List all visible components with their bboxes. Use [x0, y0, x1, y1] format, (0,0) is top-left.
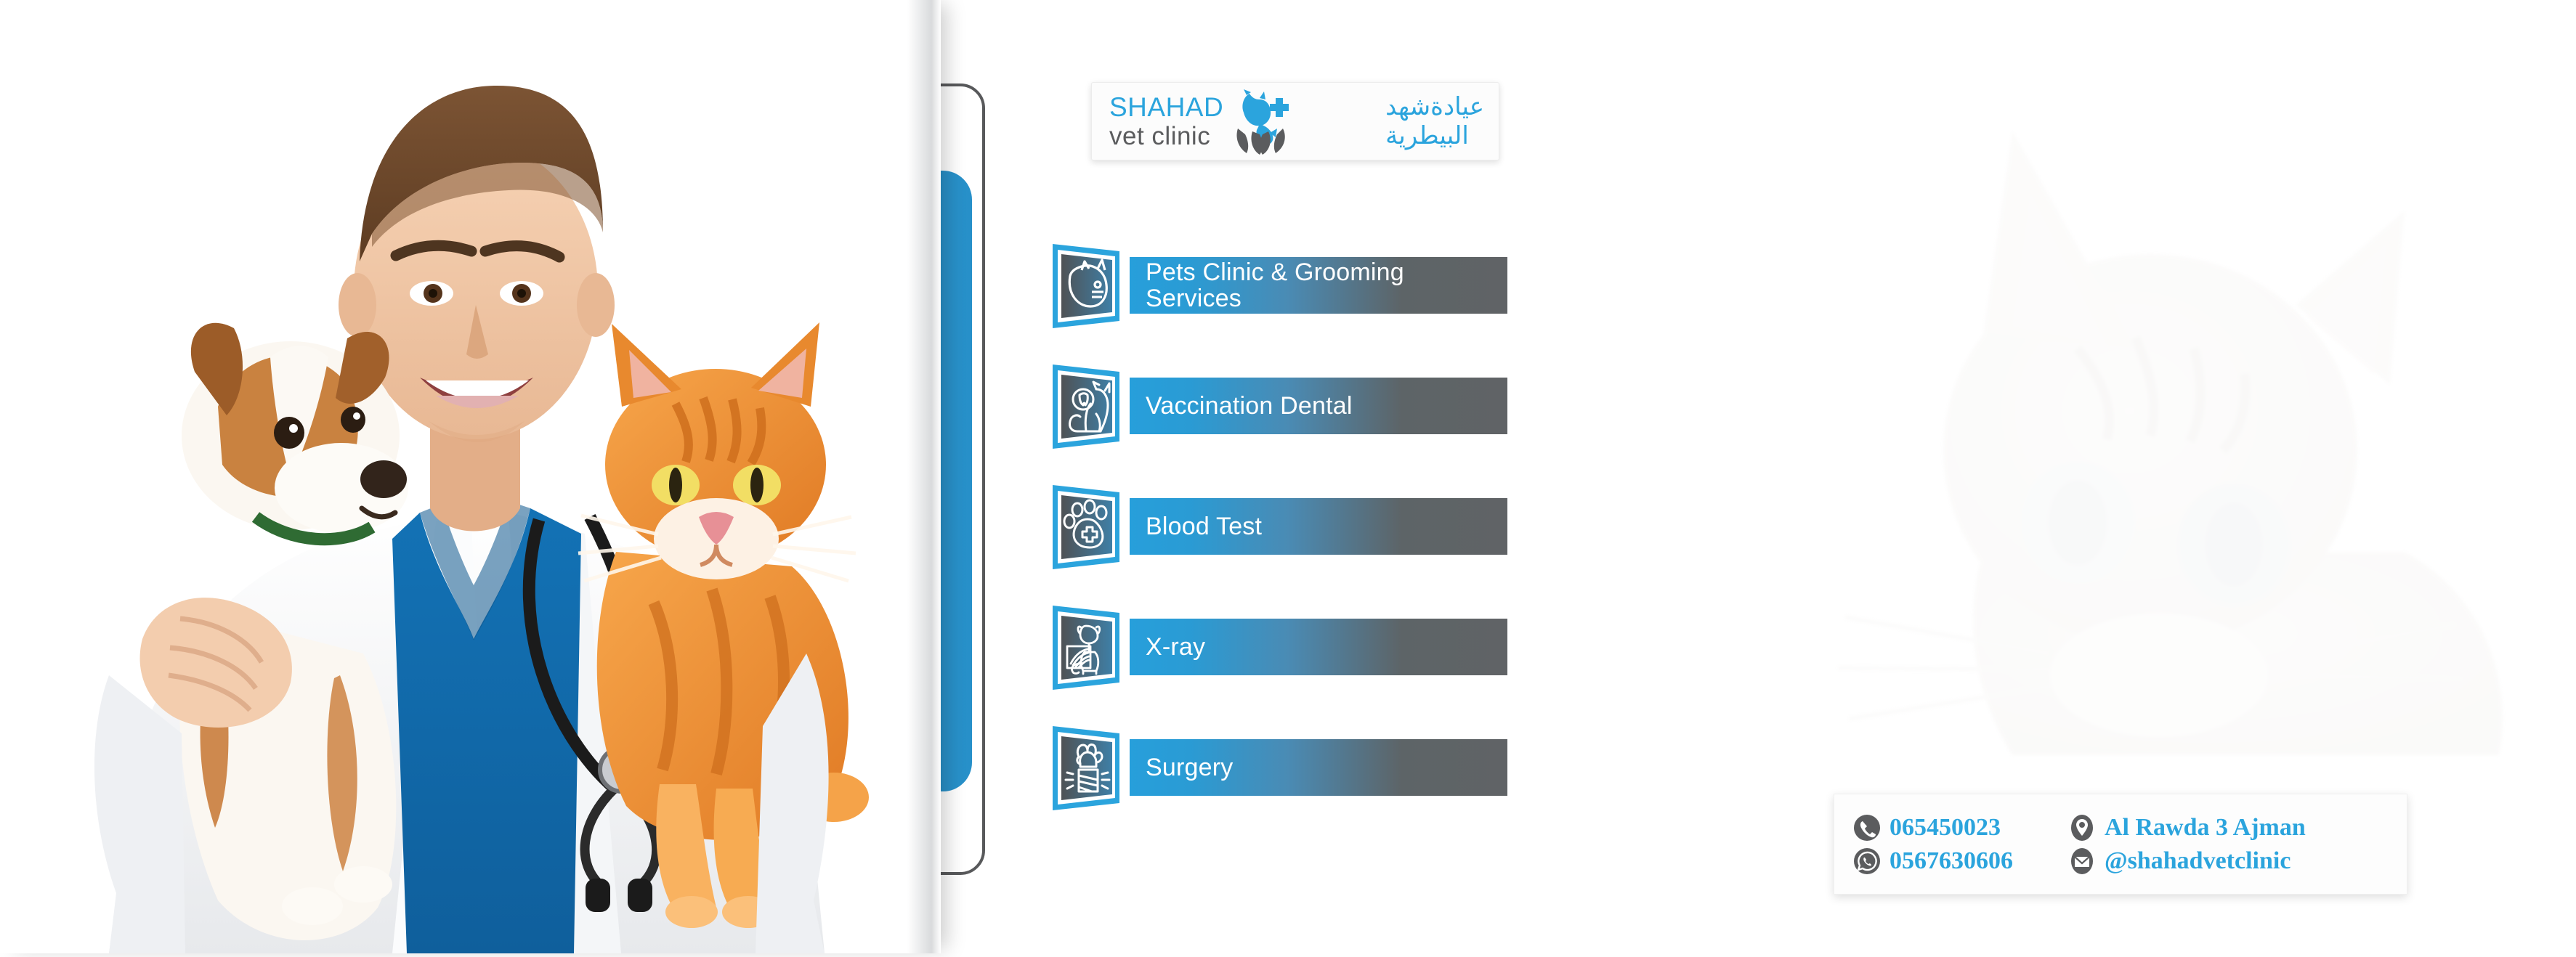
whatsapp-icon [1853, 847, 1881, 875]
logo-english-text: SHAHAD vet clinic [1109, 94, 1223, 149]
service-item[interactable]: Vaccination Dental [1048, 360, 1528, 453]
location-text: Al Rawda 3 Ajman [2105, 814, 2306, 842]
service-label: Surgery [1130, 754, 1233, 781]
dog-cat-cross-logo-icon [1231, 88, 1290, 155]
services-list: Pets Clinic & Grooming Services [1048, 240, 1528, 842]
service-bar: Vaccination Dental [1130, 378, 1507, 434]
service-item[interactable]: Pets Clinic & Grooming Services [1048, 240, 1528, 333]
logo-arabic-line2: البيطرية [1385, 123, 1469, 148]
bandaged-paw-icon [1048, 722, 1130, 815]
service-bar: X-ray [1130, 619, 1507, 675]
contact-info-box: 065450023 Al Rawda 3 Ajman 0567 [1834, 794, 2407, 895]
service-label: Blood Test [1130, 513, 1262, 539]
logo-name-line1: SHAHAD [1109, 94, 1223, 121]
service-item[interactable]: Blood Test [1048, 481, 1528, 574]
service-bar: Blood Test [1130, 498, 1507, 555]
service-item[interactable]: X-ray [1048, 601, 1528, 694]
contact-location[interactable]: Al Rawda 3 Ajman [2068, 814, 2306, 842]
service-label: X-ray [1130, 634, 1205, 660]
paw-with-cross-icon [1048, 481, 1130, 574]
location-pin-icon [2068, 814, 2096, 842]
contact-email[interactable]: @shahadvetclinic [2068, 847, 2291, 875]
phone-icon [1853, 814, 1881, 842]
contact-row: 065450023 Al Rawda 3 Ajman [1853, 814, 2388, 842]
cat-with-tooth-icon [1048, 360, 1130, 453]
service-label: Vaccination Dental [1130, 393, 1353, 419]
service-bar: Pets Clinic & Grooming Services [1130, 257, 1507, 314]
dog-with-xray-film-icon [1048, 601, 1130, 694]
service-bar: Surgery [1130, 739, 1507, 796]
cat-head-in-frame-icon [1048, 240, 1130, 333]
envelope-icon [2068, 847, 2096, 875]
phone-number: 065450023 [1890, 814, 2001, 842]
contact-phone[interactable]: 065450023 [1853, 814, 2068, 842]
veterinarian-with-dog-and-cat-photo [0, 0, 941, 953]
contact-row: 0567630606 @shahadvetclinic [1853, 847, 2388, 875]
cat-watermark-image [1671, 44, 2576, 755]
contact-whatsapp[interactable]: 0567630606 [1853, 847, 2068, 875]
logo-arabic-line1: عيادةشهد [1385, 94, 1484, 119]
service-item[interactable]: Surgery [1048, 722, 1528, 815]
whatsapp-number: 0567630606 [1890, 847, 2013, 875]
email-handle: @shahadvetclinic [2105, 847, 2291, 875]
clinic-logo[interactable]: SHAHAD vet clinic عيادةشهد البيطرية [1091, 82, 1499, 160]
service-label: Pets Clinic & Grooming Services [1130, 259, 1404, 311]
logo-name-line2: vet clinic [1109, 123, 1223, 149]
veterinarian-photo-panel [0, 0, 941, 953]
logo-arabic-text: عيادةشهد البيطرية [1385, 94, 1484, 148]
